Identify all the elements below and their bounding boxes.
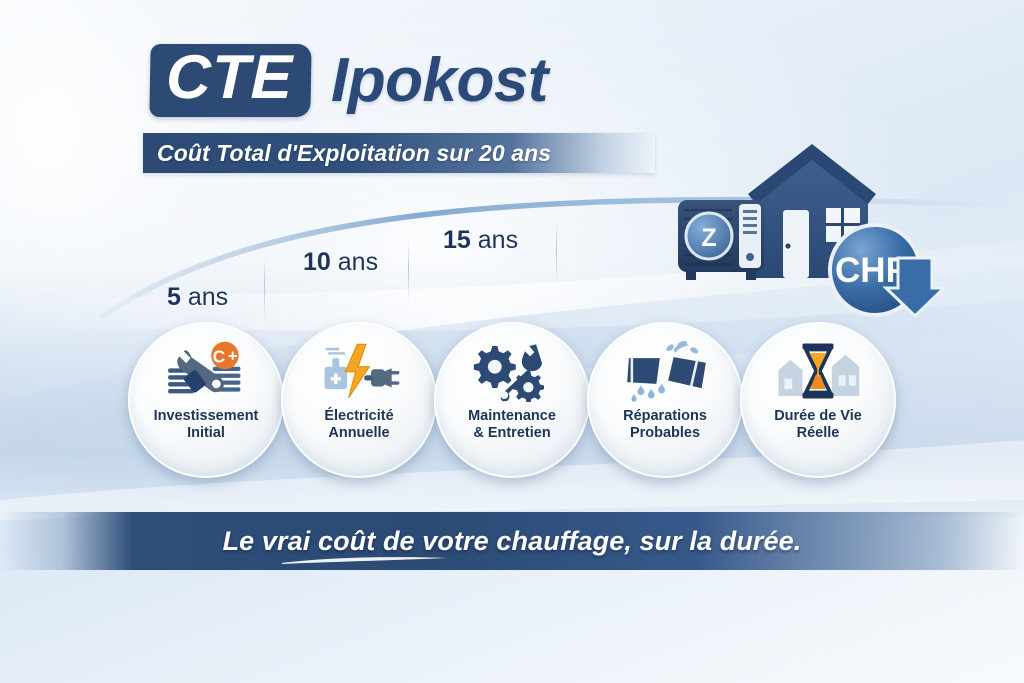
badge-investissement-initial[interactable]: C + Investissement Initial [128,322,284,478]
water-drops-icon [631,384,665,402]
timeline-year-15: 15 ans [443,226,518,255]
badge-label-line2: Annuelle [328,425,389,441]
timeline-year-5: 5 ans [167,283,228,312]
pipe-left [627,358,660,384]
svg-text:+: + [228,348,238,366]
gear-large [474,346,516,388]
timeline-tick-3 [556,222,557,284]
chf-label: CHF [835,251,907,290]
lightning-bolt-icon [345,344,369,397]
badge-label-line2: Réelle [797,425,840,441]
badge-label-line2: Probables [630,425,700,441]
hourglass-house-icon [775,340,861,402]
house-silhouette-left [778,360,802,396]
badge-label-line2: & Entretien [473,425,550,441]
badge-label-line2: Initial [187,425,225,441]
tagline-bar: Le vrai coût de votre chauffage, sur la … [0,512,1024,570]
house-heatpump-illustration: Z CHF [660,130,960,320]
subtitle-text: Coût Total d'Exploitation sur 20 ans [143,140,551,167]
badge-reparations-probables[interactable]: Réparations Probables [587,322,743,478]
c-plus-badge: C + [211,342,239,370]
badge-electricite-annuelle[interactable]: Électricité Annuelle [281,322,437,478]
gears-wrench-icon [469,340,555,402]
badge-maintenance-entretien[interactable]: Maintenance & Entretien [434,322,590,478]
infographic-canvas: CTE Ipokost Coût Total d'Exploitation su… [0,0,1024,683]
badge-label-line1: Réparations [623,408,707,424]
plug-icon [364,368,399,387]
badge-label-duree-de-vie-reelle: Durée de Vie Réelle [749,408,887,442]
badge-duree-de-vie-reelle[interactable]: Durée de Vie Réelle [740,322,896,478]
house-door-knob [785,243,790,248]
badge-label-line1: Maintenance [468,408,556,424]
logo-brand-name: Ipokost [331,49,548,112]
badge-label-electricite-annuelle: Électricité Annuelle [290,408,428,442]
chf-currency-badge: CHF [830,225,944,316]
timeline-year-10-value: 10 [303,248,331,276]
gear-small [513,372,544,402]
timeline-year-10: 10 ans [303,248,378,277]
timeline-year-5-value: 5 [167,283,181,311]
water-spray-icon [665,340,699,355]
badge-label-investissement-initial: Investissement Initial [137,408,275,442]
badge-label-line1: Durée de Vie [774,408,862,424]
badge-label-line1: Électricité [324,408,393,424]
tagline-text: Le vrai coût de votre chauffage, sur la … [223,526,802,557]
pipe-right [668,355,707,388]
cost-badges-row: C + Investissement Initial [128,322,898,488]
wrench-coins-icon: C + [163,340,249,402]
timeline-year-15-unit: ans [478,226,518,254]
heat-pump-icon: Z [678,200,764,280]
timeline-year-15-value: 15 [443,226,471,254]
timeline-tick-1 [264,258,265,320]
house-silhouette-right [832,355,860,396]
timeline-year-10-unit: ans [338,248,378,276]
svg-text:C: C [213,346,225,366]
subtitle-ribbon: Coût Total d'Exploitation sur 20 ans [143,133,655,173]
heat-pump-dial-label: Z [701,224,716,252]
badge-label-maintenance-entretien: Maintenance & Entretien [443,408,581,442]
logo: CTE Ipokost [150,44,548,117]
broken-pipe-icon [622,340,708,402]
badge-label-line1: Investissement [154,408,259,424]
timeline-tick-2 [408,240,409,302]
badge-label-reparations-probables: Réparations Probables [596,408,734,442]
lightning-plug-icon [316,340,402,402]
hourglass-icon [803,343,834,398]
logo-badge-cte: CTE [149,44,311,117]
timeline-year-5-unit: ans [188,283,228,311]
